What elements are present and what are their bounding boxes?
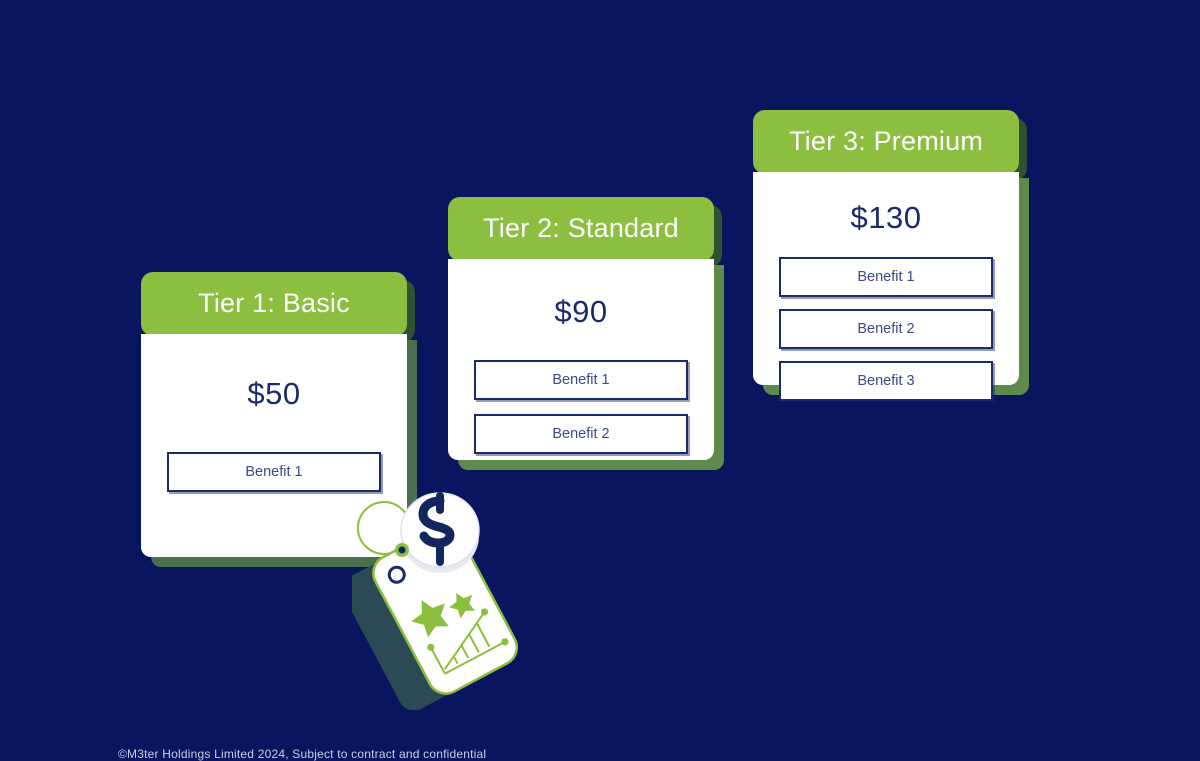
- slide-canvas: Tier 1: Basic $50 Benefit 1 Tier 2: Stan…: [0, 0, 1200, 761]
- tier-3-benefit-list: Benefit 1 Benefit 2 Benefit 3: [779, 257, 993, 401]
- footer-copyright: ©M3ter Holdings Limited 2024, Subject to…: [118, 747, 486, 761]
- tier-2-price: $90: [554, 296, 607, 327]
- tier-3-benefit-3[interactable]: Benefit 3: [779, 361, 993, 401]
- star-icon: [405, 591, 455, 641]
- tier-3-benefit-1[interactable]: Benefit 1: [779, 257, 993, 297]
- tier-1-body: $50 Benefit 1: [141, 334, 407, 557]
- star-icon: [445, 587, 479, 621]
- tier-2-title: Tier 2: Standard: [448, 197, 714, 261]
- tier-3-body: $130 Benefit 1 Benefit 2 Benefit 3: [753, 172, 1019, 385]
- tier-2-body-wrap: $90 Benefit 1 Benefit 2: [448, 259, 714, 460]
- tier-3-body-wrap: $130 Benefit 1 Benefit 2 Benefit 3: [753, 172, 1019, 385]
- tier-1-price: $50: [247, 378, 300, 409]
- tier-3-header-wrap: Tier 3: Premium: [753, 110, 1019, 174]
- tier-3-price: $130: [851, 202, 922, 233]
- tier-3-title: Tier 3: Premium: [753, 110, 1019, 174]
- bar-chart-icon: [424, 607, 508, 678]
- pricing-card-tier-1[interactable]: Tier 1: Basic $50 Benefit 1: [141, 272, 407, 557]
- tier-2-benefit-list: Benefit 1 Benefit 2: [474, 360, 688, 454]
- tier-1-benefit-list: Benefit 1: [167, 452, 381, 492]
- tier-3-benefit-2[interactable]: Benefit 2: [779, 309, 993, 349]
- tier-1-body-wrap: $50 Benefit 1: [141, 334, 407, 557]
- tier-1-title: Tier 1: Basic: [141, 272, 407, 336]
- tier-2-body: $90 Benefit 1 Benefit 2: [448, 259, 714, 460]
- pricing-card-tier-3[interactable]: Tier 3: Premium $130 Benefit 1 Benefit 2…: [753, 110, 1019, 385]
- tier-2-benefit-2[interactable]: Benefit 2: [474, 414, 688, 454]
- tier-2-benefit-1[interactable]: Benefit 1: [474, 360, 688, 400]
- tier-1-benefit-1[interactable]: Benefit 1: [167, 452, 381, 492]
- tier-2-header-wrap: Tier 2: Standard: [448, 197, 714, 261]
- tier-1-header-wrap: Tier 1: Basic: [141, 272, 407, 336]
- pricing-card-tier-2[interactable]: Tier 2: Standard $90 Benefit 1 Benefit 2: [448, 197, 714, 460]
